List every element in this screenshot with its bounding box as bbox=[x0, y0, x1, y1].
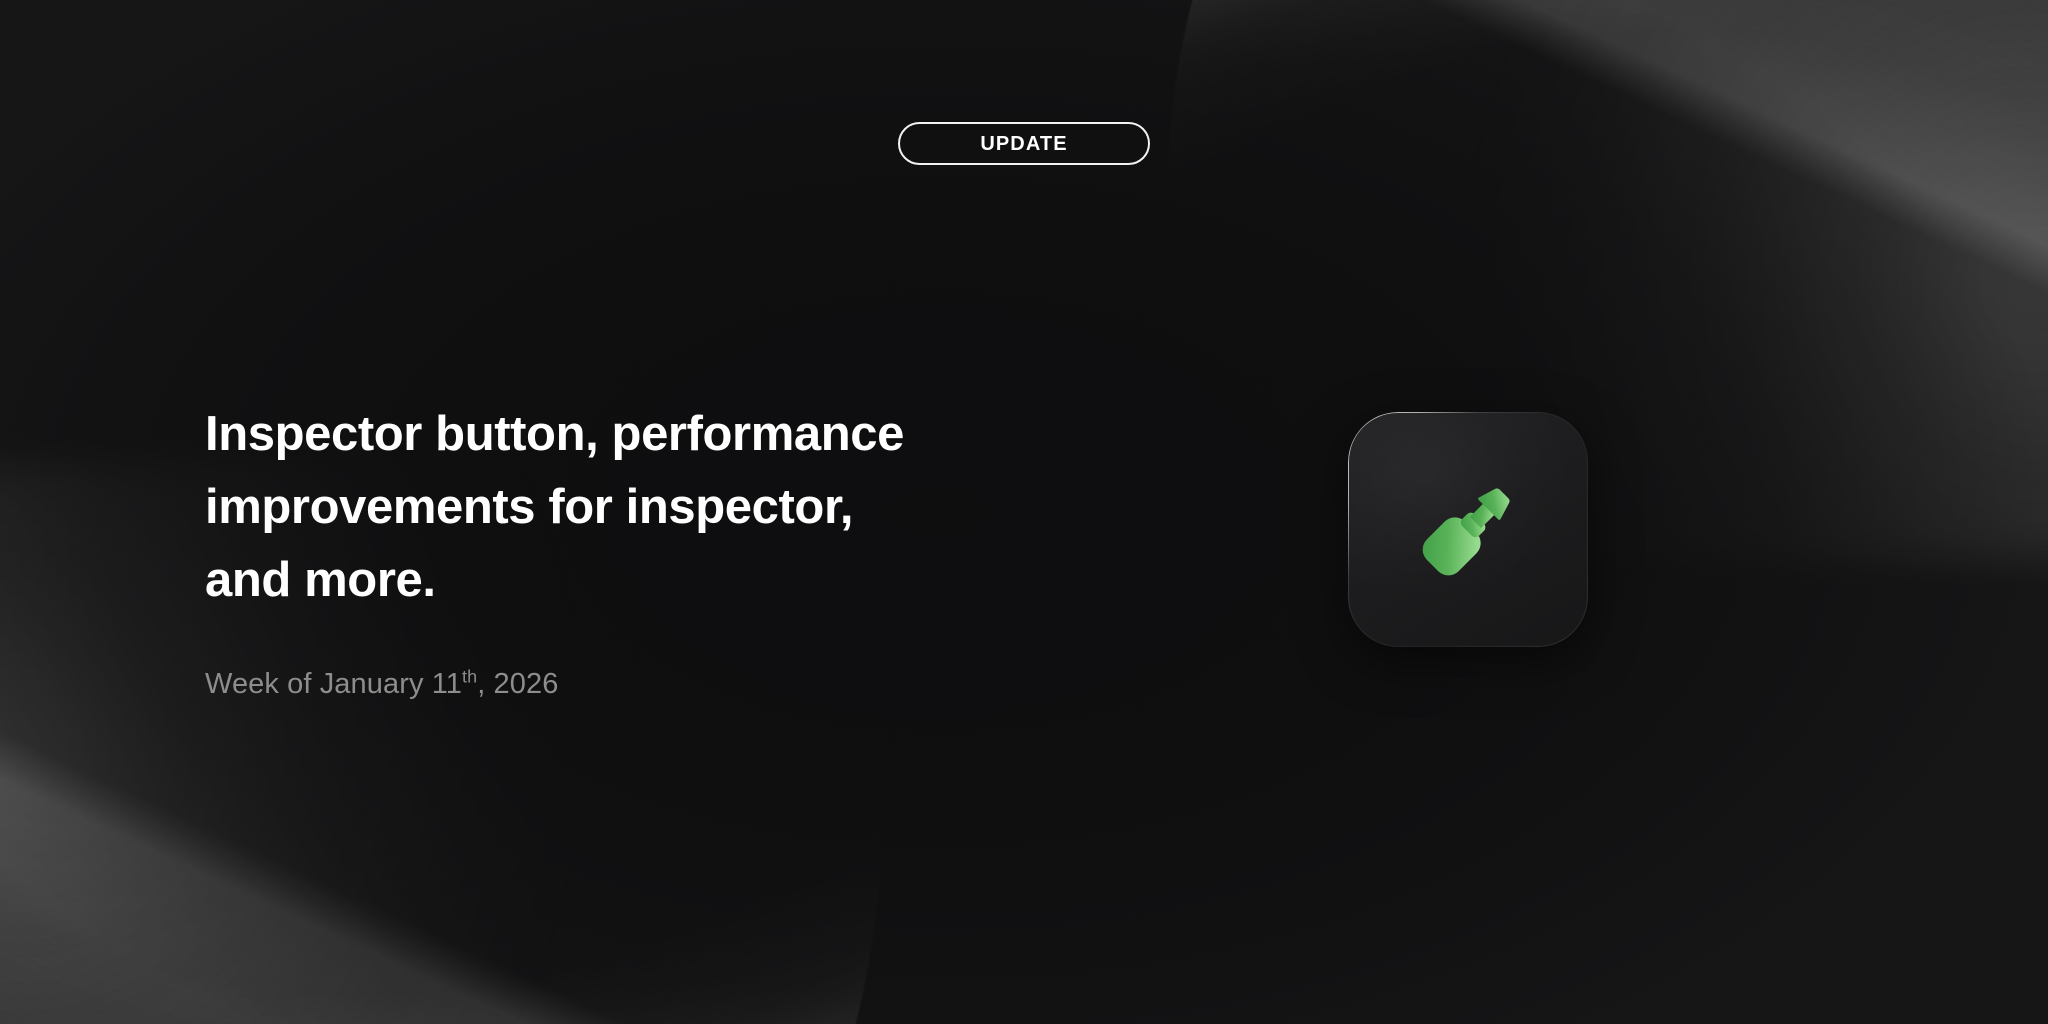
update-badge-label: UPDATE bbox=[980, 134, 1067, 154]
dateline: Week of January 11th, 2026 bbox=[205, 617, 1145, 701]
dateline-prefix: Week of January 11 bbox=[205, 668, 462, 700]
update-badge: UPDATE bbox=[898, 122, 1150, 165]
dateline-ordinal-suffix: th bbox=[462, 666, 477, 686]
dateline-year: , 2026 bbox=[477, 668, 558, 700]
page-title: Inspector button, performance improvemen… bbox=[205, 398, 1145, 617]
update-banner: UPDATE Inspector button, performance imp… bbox=[0, 0, 2048, 1024]
screwdriver-icon bbox=[1402, 464, 1534, 596]
headline-block: Inspector button, performance improvemen… bbox=[205, 398, 1145, 701]
icon-tile bbox=[1348, 412, 1588, 647]
